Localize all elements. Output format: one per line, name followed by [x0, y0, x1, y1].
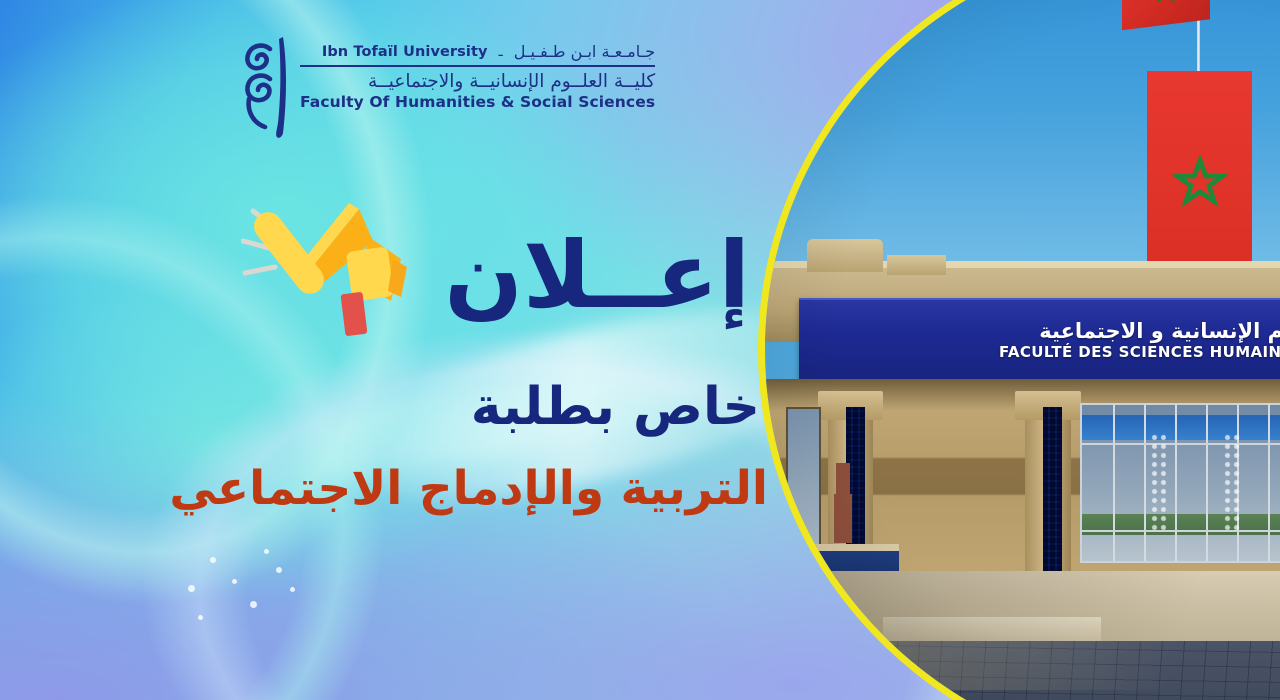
logo-faculty-ar: كليــة العلــوم الإنسانيــة والاجتماعيــ…: [300, 71, 655, 92]
background-bubbles: [180, 545, 320, 635]
faculty-building-photo: كلية العلوم الإنسانية و الاجتماعية FACUL…: [765, 0, 1280, 700]
photo-door-reflection-sky: [1082, 415, 1280, 440]
headline-row: إعــلان: [190, 196, 750, 356]
announcement-banner: Ibn Tofaïl University ـ جـامـعـة ابـن طـ…: [0, 0, 1280, 700]
building-sign-french: FACULTÉ DES SCIENCES HUMAINES ET SOCIALE…: [999, 345, 1280, 360]
flag-wall-panel: [1147, 71, 1252, 292]
university-logo: Ibn Tofaïl University ـ جـامـعـة ابـن طـ…: [243, 33, 655, 141]
megaphone-icon: [241, 197, 416, 347]
announcement-heading: إعــلان: [444, 230, 750, 322]
logo-faculty-en: Faculty Of Humanities & Social Sciences: [300, 93, 655, 111]
photo-side-door-left: [786, 407, 821, 546]
photo-chair: [834, 494, 852, 543]
announcement-subtitle-line-1: خاص بطلبة: [40, 378, 760, 438]
building-sign-arabic: كلية العلوم الإنسانية و الاجتماعية: [1039, 321, 1280, 342]
photo-paving-shadow: [765, 641, 1280, 690]
photo-content: كلية العلوم الإنسانية و الاجتماعية FACUL…: [765, 0, 1280, 700]
building-sign: كلية العلوم الإنسانية و الاجتماعية FACUL…: [799, 298, 1280, 382]
photo-entrance-doors: [1080, 403, 1280, 563]
logo-university-ar: جـامـعـة ابـن طـفـيـل: [514, 42, 655, 61]
photo-door-grill-left: [1150, 433, 1167, 530]
logo-university-row: Ibn Tofaïl University ـ جـامـعـة ابـن طـ…: [300, 42, 655, 67]
logo-mark-icon: [243, 33, 291, 141]
logo-university-en: Ibn Tofaïl University: [322, 44, 488, 60]
photo-door-grill-mid: [1223, 433, 1240, 530]
announcement-subtitle-line-2: التربية والإدماج الاجتماعي: [8, 462, 768, 516]
logo-text-block: Ibn Tofaïl University ـ جـامـعـة ابـن طـ…: [300, 33, 655, 111]
logo-separator: ـ: [499, 44, 503, 60]
photo-merlon-left-2: [887, 255, 946, 275]
photo-merlon-left: [807, 239, 883, 272]
photo-mosaic-tile-mid: [1043, 407, 1062, 571]
